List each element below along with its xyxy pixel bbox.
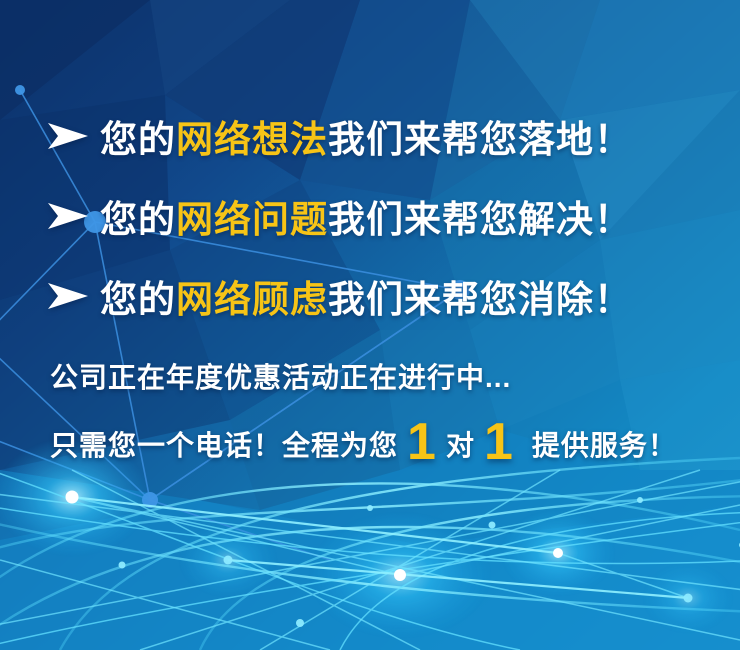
- headline-2-highlight: 网络问题: [176, 199, 328, 240]
- subtext-line-2-part1: 只需您一个电话！全程为您: [50, 424, 398, 464]
- headline-list: 您的网络想法我们来帮您落地！ 您的网络问题我们来帮您解决！ 您的网络顾虑我们来帮…: [44, 96, 734, 336]
- headline-text-3: 您的网络顾虑我们来帮您消除！: [96, 269, 632, 323]
- headline-3-prefix: 您的: [100, 279, 176, 320]
- banner-content: 您的网络想法我们来帮您落地！ 您的网络问题我们来帮您解决！ 您的网络顾虑我们来帮…: [0, 0, 740, 650]
- service-ratio-number-1: 1: [398, 422, 446, 464]
- headline-2-prefix: 您的: [100, 199, 176, 240]
- headline-3-highlight: 网络顾虑: [176, 279, 328, 320]
- headline-text-2: 您的网络问题我们来帮您解决！: [96, 189, 632, 243]
- headline-row-2: 您的网络问题我们来帮您解决！: [44, 176, 734, 256]
- headline-1-prefix: 您的: [100, 119, 176, 160]
- headline-row-3: 您的网络顾虑我们来帮您消除！: [44, 256, 734, 336]
- arrow-right-icon: [44, 279, 96, 313]
- headline-1-highlight: 网络想法: [176, 119, 328, 160]
- subtext-line-2-part2: 对: [446, 424, 475, 464]
- headline-1-suffix: 我们来帮您落地！: [328, 119, 632, 160]
- subtext-block: 公司正在年度优惠活动正在进行中... 只需您一个电话！全程为您1对1提供服务！: [50, 356, 740, 464]
- subtext-line-1: 公司正在年度优惠活动正在进行中...: [50, 356, 740, 396]
- headline-row-1: 您的网络想法我们来帮您落地！: [44, 96, 734, 176]
- subtext-line-2: 只需您一个电话！全程为您1对1提供服务！: [50, 418, 740, 464]
- headline-2-suffix: 我们来帮您解决！: [328, 199, 632, 240]
- headline-3-suffix: 我们来帮您消除！: [328, 279, 632, 320]
- arrow-right-icon: [44, 199, 96, 233]
- headline-text-1: 您的网络想法我们来帮您落地！: [96, 109, 632, 163]
- subtext-line-2-part3: 提供服务！: [532, 424, 677, 464]
- promo-banner: 您的网络想法我们来帮您落地！ 您的网络问题我们来帮您解决！ 您的网络顾虑我们来帮…: [0, 0, 740, 650]
- service-ratio-number-2: 1: [475, 422, 523, 464]
- arrow-right-icon: [44, 119, 96, 153]
